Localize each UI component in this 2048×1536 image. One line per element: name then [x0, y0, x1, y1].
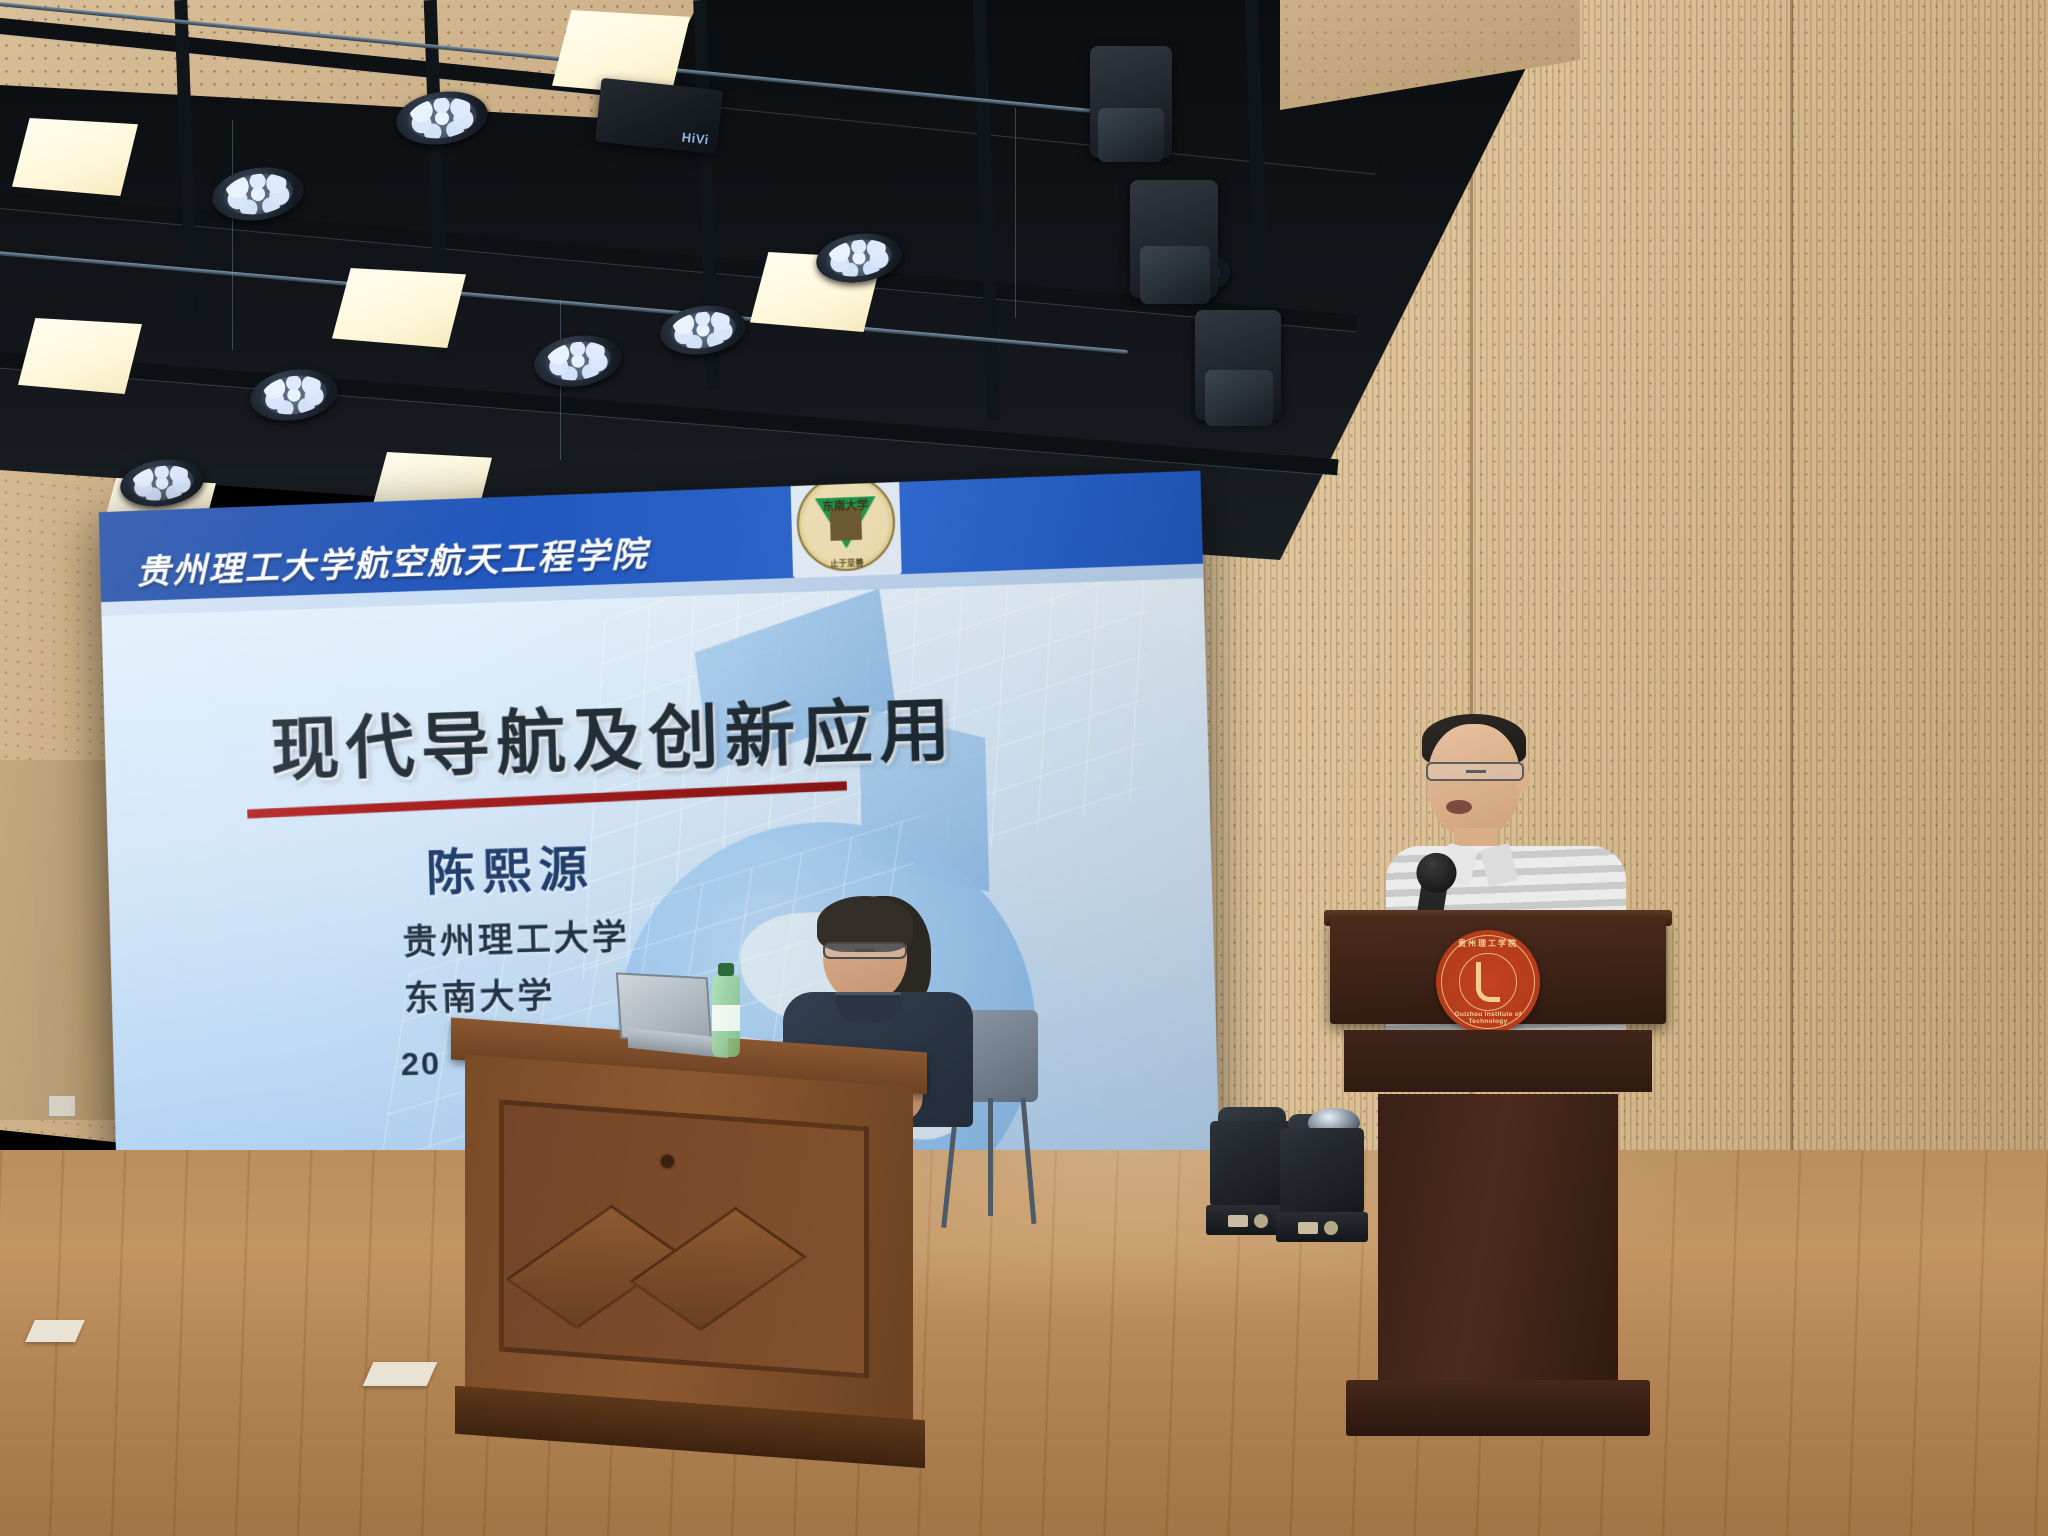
ceiling-speaker: HiVi — [595, 78, 723, 154]
podium-column — [1378, 1094, 1618, 1384]
southeast-university-seal-icon: SOUTHEAST UNIVERSITY 东南大学 止于至善 — [790, 471, 902, 578]
ceiling-panel-light — [332, 268, 466, 348]
ceiling-panel-light — [12, 118, 138, 196]
hanging-moving-head-light — [1090, 46, 1172, 158]
podium-foot — [1346, 1380, 1650, 1436]
ceiling-panel-light — [18, 318, 142, 394]
slide-author-name: 陈熙源 — [425, 829, 596, 904]
podium[interactable]: 贵州理工学院 Guizhou Institute of Technology — [1330, 918, 1666, 1478]
mouth — [1446, 800, 1472, 814]
hanging-moving-head-light — [1130, 180, 1218, 298]
podium-logo-cn-text: 贵州理工学院 — [1436, 938, 1540, 949]
lectern-front-panel — [499, 1099, 869, 1378]
lecture-hall-scene: HiVi 贵州理工大学航空航天工程学院 SOUTHEAST UNIVERSITY… — [0, 0, 2048, 1536]
ceiling-drop-cable — [1015, 108, 1016, 318]
floor-paper-scrap[interactable] — [363, 1362, 438, 1386]
floor-paper-scrap[interactable] — [25, 1320, 85, 1342]
wooden-lectern[interactable] — [465, 1035, 913, 1460]
wall-power-outlet[interactable] — [48, 1095, 76, 1117]
seal-bottom-text: 止于至善 — [793, 555, 902, 570]
polo-collar — [835, 992, 901, 1022]
slide-title: 现代导航及创新应用 — [269, 673, 957, 794]
moving-head-stage-light[interactable] — [1276, 1102, 1368, 1242]
ceiling-drop-cable — [232, 120, 233, 350]
glasses-icon — [1426, 762, 1524, 781]
water-bottle[interactable] — [712, 975, 740, 1057]
slide-date: 20 — [400, 1045, 441, 1083]
podium-logo-en-text: Guizhou Institute of Technology — [1436, 1011, 1540, 1025]
podium-mid-section — [1344, 1030, 1652, 1092]
glasses-icon — [823, 942, 907, 959]
wall-seam — [1790, 0, 1793, 1290]
speaker-brand-label: HiVi — [681, 130, 709, 148]
slide-affiliation-primary: 贵州理工大学 — [402, 909, 631, 964]
guizhou-institute-of-technology-logo-icon: 贵州理工学院 Guizhou Institute of Technology — [1436, 930, 1540, 1034]
lectern-knob[interactable] — [661, 1155, 674, 1168]
slide-affiliation-secondary: 东南大学 — [403, 968, 556, 1021]
hanging-moving-head-light — [1195, 310, 1281, 420]
